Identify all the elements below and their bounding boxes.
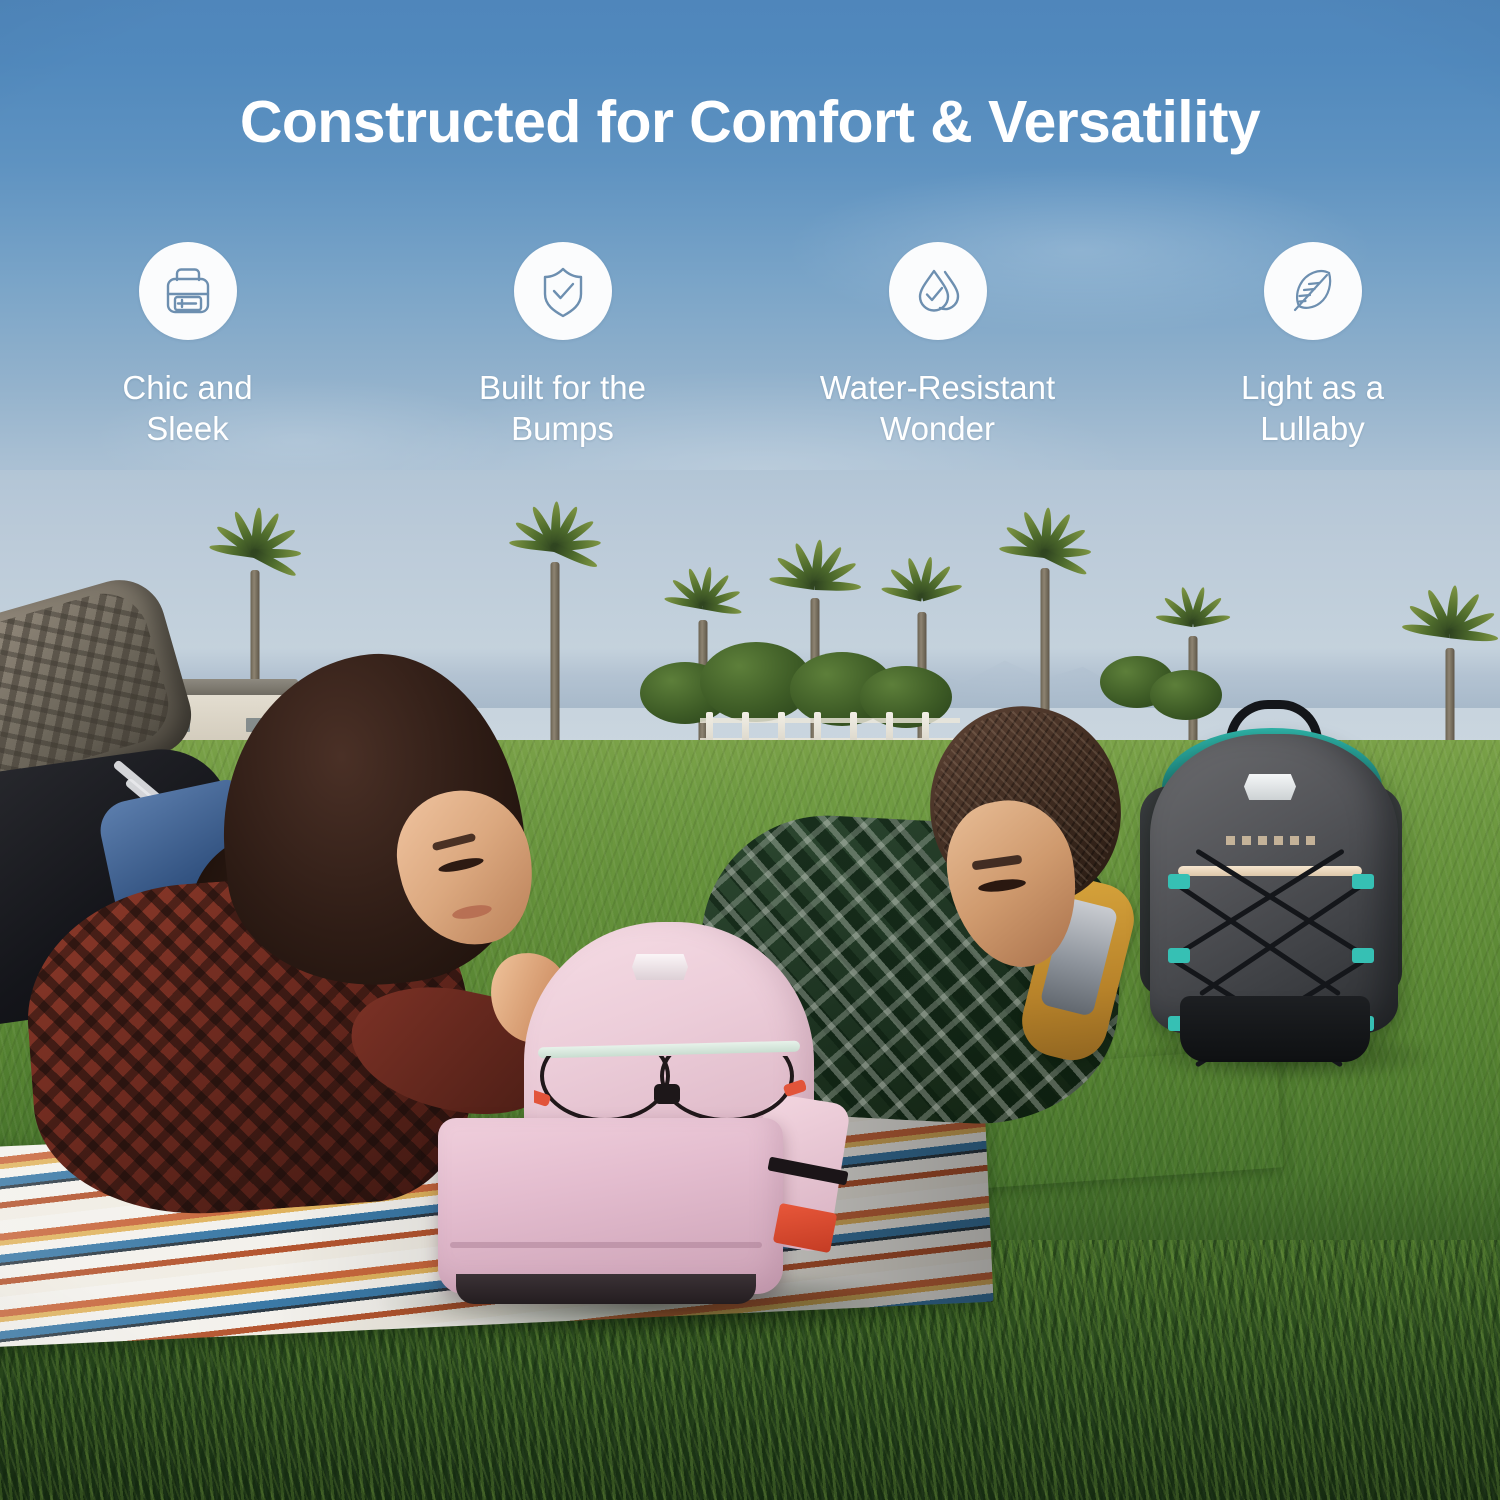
backpack-bottom-panel (456, 1274, 756, 1304)
brand-logo-patch (1244, 774, 1296, 800)
marketing-banner: Constructed for Comfort & Versatility (0, 0, 1500, 1500)
cord-anchor-tab (1352, 874, 1374, 889)
feature-list: Chic and Sleek Built for the Bumps (0, 242, 1500, 450)
feature-icon-badge (1264, 242, 1362, 340)
feature-icon-badge (514, 242, 612, 340)
feature-label: Water-Resistant Wonder (820, 367, 1055, 450)
feature-item-chic-and-sleek[interactable]: Chic and Sleek (0, 242, 375, 450)
feature-item-light-as-a-lullaby[interactable]: Light as a Lullaby (1125, 242, 1500, 450)
cord-anchor-tab (1168, 948, 1190, 963)
feather-icon (1286, 264, 1340, 318)
backpack-bottom-panel (1180, 996, 1370, 1062)
backpack-front-pocket (438, 1118, 783, 1294)
palm-tree (495, 512, 615, 772)
cord-anchor-tab (1352, 948, 1374, 963)
feature-label: Light as a Lullaby (1241, 367, 1384, 450)
pink-backpack (438, 922, 838, 1302)
backpack-cream-strip (1178, 866, 1362, 876)
backpack-icon (161, 264, 215, 318)
feature-label-line1: Water-Resistant (820, 369, 1055, 406)
feature-label-line1: Light as a (1241, 369, 1384, 406)
page-title: Constructed for Comfort & Versatility (0, 92, 1500, 154)
feature-label-line2: Wonder (880, 410, 995, 447)
shield-check-icon (536, 264, 590, 318)
feature-label: Chic and Sleek (122, 367, 252, 450)
cord-anchor-tab (1168, 874, 1190, 889)
feature-label-line1: Chic and (122, 369, 252, 406)
water-droplet-check-icon (911, 264, 965, 318)
feature-label-line2: Lullaby (1260, 410, 1365, 447)
cord-toggle (654, 1084, 680, 1104)
feature-item-built-for-the-bumps[interactable]: Built for the Bumps (375, 242, 750, 450)
feature-icon-badge (889, 242, 987, 340)
feature-icon-badge (139, 242, 237, 340)
brand-wordmark (1226, 836, 1318, 845)
brand-logo-patch (632, 954, 688, 980)
feature-label-line2: Bumps (511, 410, 614, 447)
gray-backpack (1140, 700, 1410, 1070)
feature-label-line1: Built for the (479, 369, 646, 406)
feature-item-water-resistant-wonder[interactable]: Water-Resistant Wonder (750, 242, 1125, 450)
feature-label-line2: Sleek (146, 410, 229, 447)
fence-rail (700, 718, 960, 723)
backpack-front-seam (450, 1242, 762, 1248)
feature-label: Built for the Bumps (479, 367, 646, 450)
